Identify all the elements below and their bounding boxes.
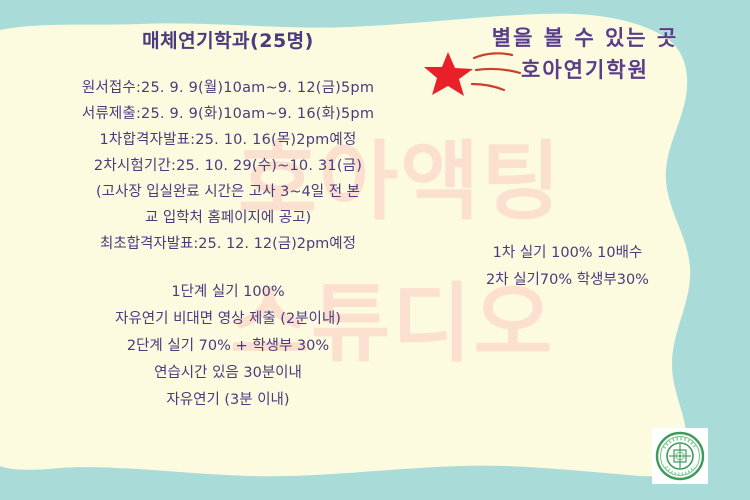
evaluation-notes: 1차 실기 100% 10배수 2차 실기70% 학생부30% xyxy=(455,240,680,294)
main-content: 매체연기학과(25명) 원서접수:25. 9. 9(월)10am~9. 12(금… xyxy=(48,26,408,414)
schedule-item: 2차시험기간:25. 10. 29(수)~10. 31(금) xyxy=(48,153,408,179)
schedule-list: 원서접수:25. 9. 9(월)10am~9. 12(금)5pm 서류제출:25… xyxy=(48,75,408,179)
stage-item: 자유연기 (3분 이내) xyxy=(48,387,408,414)
stage-list: 1단계 실기 100% 자유연기 비대면 영상 제출 (2분이내) 2단계 실기… xyxy=(48,279,408,414)
academy-seal-icon xyxy=(652,428,708,484)
stage-item: 자유연기 비대면 영상 제출 (2분이내) xyxy=(48,306,408,333)
header-line-2: 호아연기학원 xyxy=(470,54,700,86)
stage-item: 2단계 실기 70% + 학생부 30% xyxy=(48,333,408,360)
note-item: (고사장 입실완료 시간은 고사 3~4일 전 본 xyxy=(48,179,408,205)
poster-canvas: 호아액팅 스튜디오 별을 볼 수 있는 곳 호아연기학원 매체연기학과(25명)… xyxy=(0,0,750,500)
evaluation-note-item: 1차 실기 100% 10배수 xyxy=(455,240,680,267)
academy-header: 별을 볼 수 있는 곳 호아연기학원 xyxy=(470,22,700,86)
notes-list: (고사장 입실완료 시간은 고사 3~4일 전 본 교 입학처 홈페이지에 공고… xyxy=(48,179,408,257)
header-line-1: 별을 볼 수 있는 곳 xyxy=(470,22,700,54)
stage-item: 연습시간 있음 30분이내 xyxy=(48,360,408,387)
page-title: 매체연기학과(25명) xyxy=(48,26,408,53)
note-item: 최초합격자발표:25. 12. 12(금)2pm예정 xyxy=(48,231,408,257)
evaluation-note-item: 2차 실기70% 학생부30% xyxy=(455,267,680,294)
note-item: 교 입학처 홈페이지에 공고) xyxy=(48,205,408,231)
schedule-item: 원서접수:25. 9. 9(월)10am~9. 12(금)5pm xyxy=(48,75,408,101)
schedule-item: 서류제출:25. 9. 9(화)10am~9. 16(화)5pm xyxy=(48,101,408,127)
stage-item: 1단계 실기 100% xyxy=(48,279,408,306)
schedule-item: 1차합격자발표:25. 10. 16(목)2pm예정 xyxy=(48,127,408,153)
